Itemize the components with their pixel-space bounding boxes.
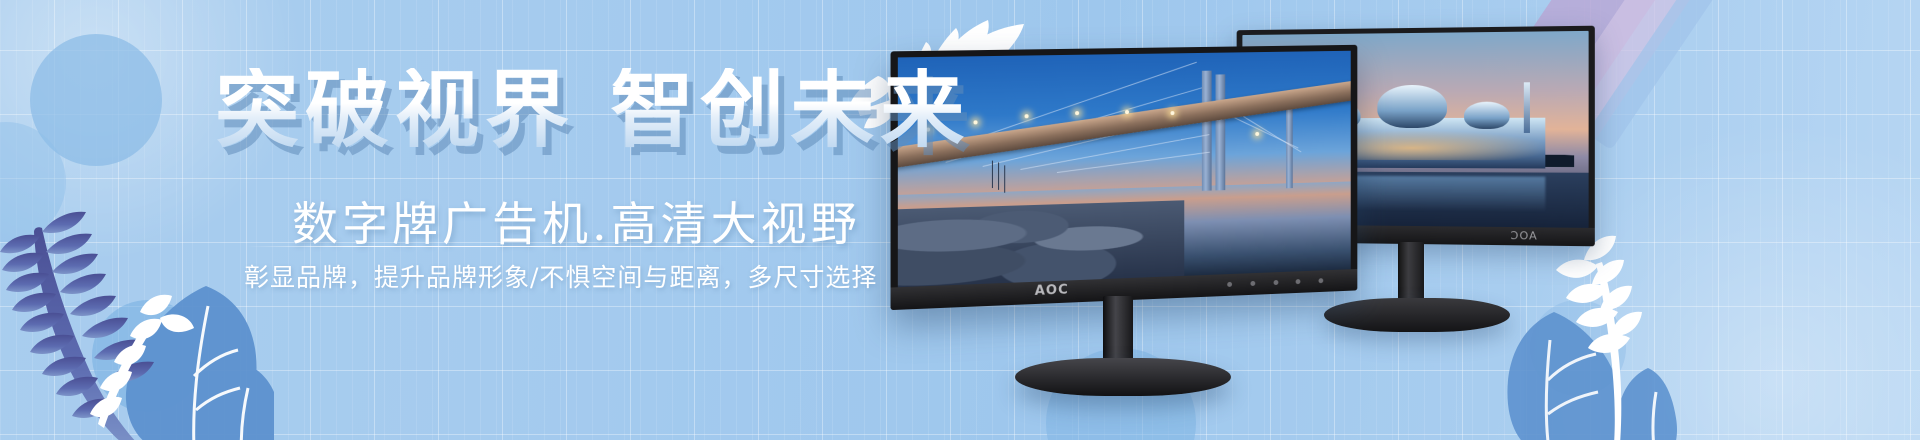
brand-logo-front: AOC bbox=[1035, 282, 1069, 299]
banner-tagline: 彰显品牌，提升品牌形象/不惧空间与距离，多尺寸选择 bbox=[244, 258, 877, 294]
bridge-light bbox=[1255, 132, 1259, 136]
banner-headline: 突破视界 智创未来 bbox=[215, 68, 970, 152]
mosque-dome bbox=[1378, 85, 1447, 128]
bridge-pylon bbox=[1215, 75, 1225, 191]
monitor-back-stand-neck bbox=[1398, 242, 1424, 306]
brand-logo-back: AOC bbox=[1510, 229, 1537, 242]
monitor-front-stand-base bbox=[1015, 358, 1231, 396]
foreground-rocks bbox=[898, 200, 1184, 287]
bridge-light bbox=[973, 120, 977, 124]
foliage-icon bbox=[0, 166, 274, 440]
construction-crane bbox=[992, 161, 993, 188]
monitor-front-stand-neck bbox=[1103, 296, 1133, 366]
divider-rule bbox=[246, 246, 850, 247]
bridge-pylon bbox=[1202, 71, 1212, 191]
mosque-minaret bbox=[1524, 82, 1530, 133]
mosque-dome bbox=[1464, 102, 1510, 129]
promo-banner: AOC bbox=[0, 0, 1920, 440]
banner-subtitle: 数字牌广告机.高清大视野 bbox=[292, 188, 861, 254]
